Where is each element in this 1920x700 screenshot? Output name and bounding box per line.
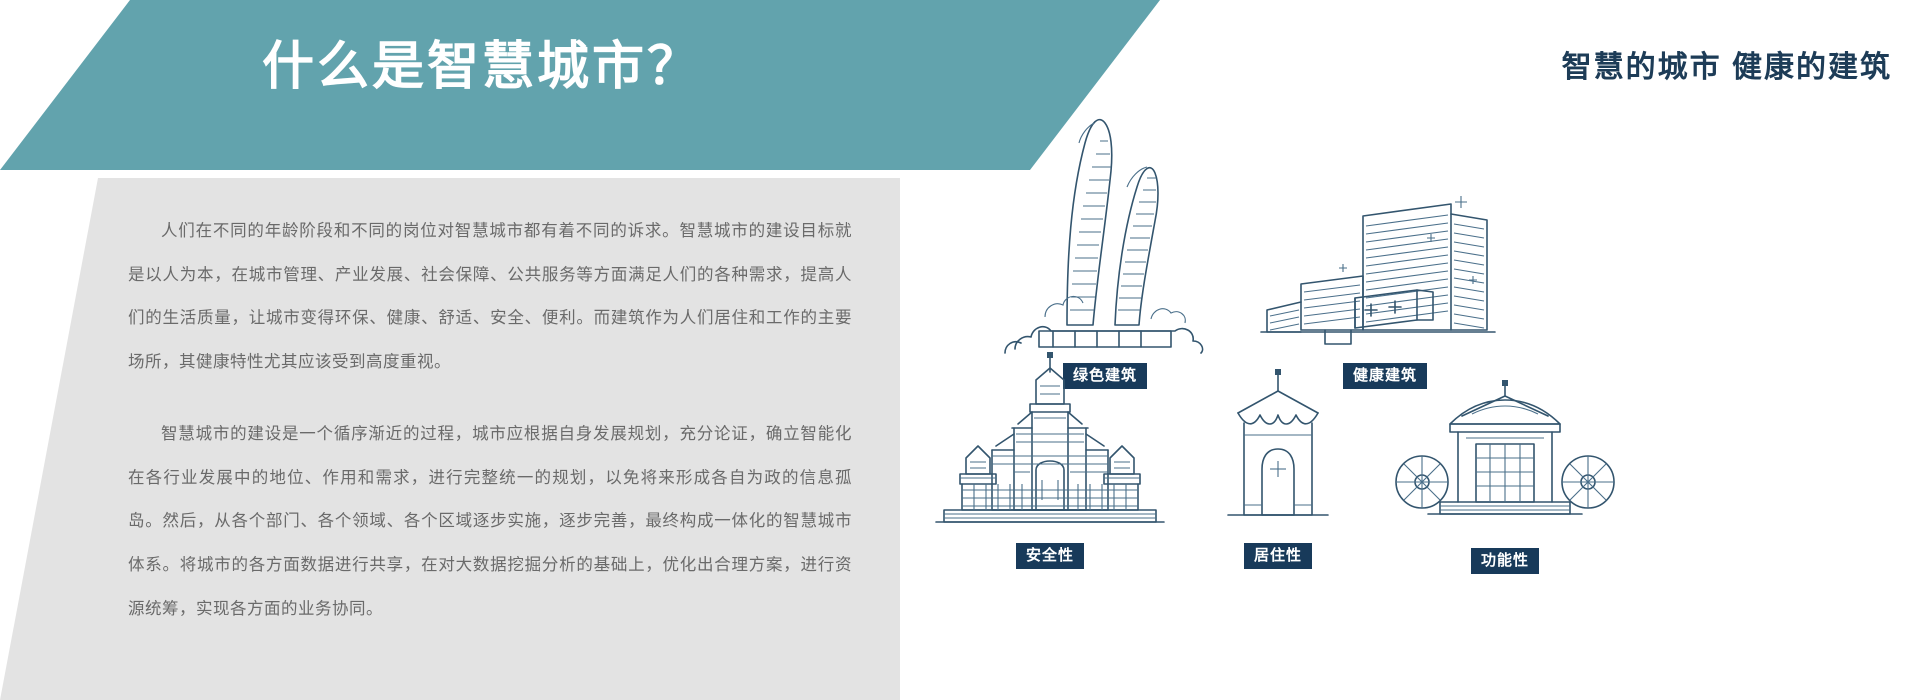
illustration-grid: 绿色建筑 <box>900 95 1920 615</box>
illustration-item-health-building: 健康建筑 <box>1255 180 1515 389</box>
illustration-label-safety: 安全性 <box>1016 543 1084 569</box>
castle-icon <box>900 350 1200 535</box>
illustration-item-green-building: 绿色建筑 <box>975 105 1235 389</box>
twisted-towers-icon <box>975 105 1235 355</box>
hospital-building-icon <box>1255 180 1515 355</box>
paragraph-1: 人们在不同的年龄阶段和不同的岗位对智慧城市都有着不同的诉求。智慧城市的建设目标就… <box>128 210 852 385</box>
illustration-label-function: 功能性 <box>1471 548 1539 574</box>
header-slogan: 智慧的城市 健康的建筑 <box>1562 42 1892 86</box>
illustration-label-livable: 居住性 <box>1244 543 1312 569</box>
paragraph-2: 智慧城市的建设是一个循序渐近的过程，城市应根据自身发展规划，充分论证，确立智能化… <box>128 413 852 632</box>
illustration-item-function: 功能性 <box>1380 370 1630 574</box>
illustration-item-safety: 安全性 <box>900 350 1200 569</box>
illustration-item-livable: 居住性 <box>1188 365 1368 569</box>
page-title: 什么是智慧城市？ <box>262 36 702 98</box>
body-text-block: 人们在不同的年龄阶段和不同的岗位对智慧城市都有着不同的诉求。智慧城市的建设目标就… <box>128 210 852 631</box>
pavilion-icon <box>1380 370 1630 540</box>
house-shop-icon <box>1188 365 1368 535</box>
